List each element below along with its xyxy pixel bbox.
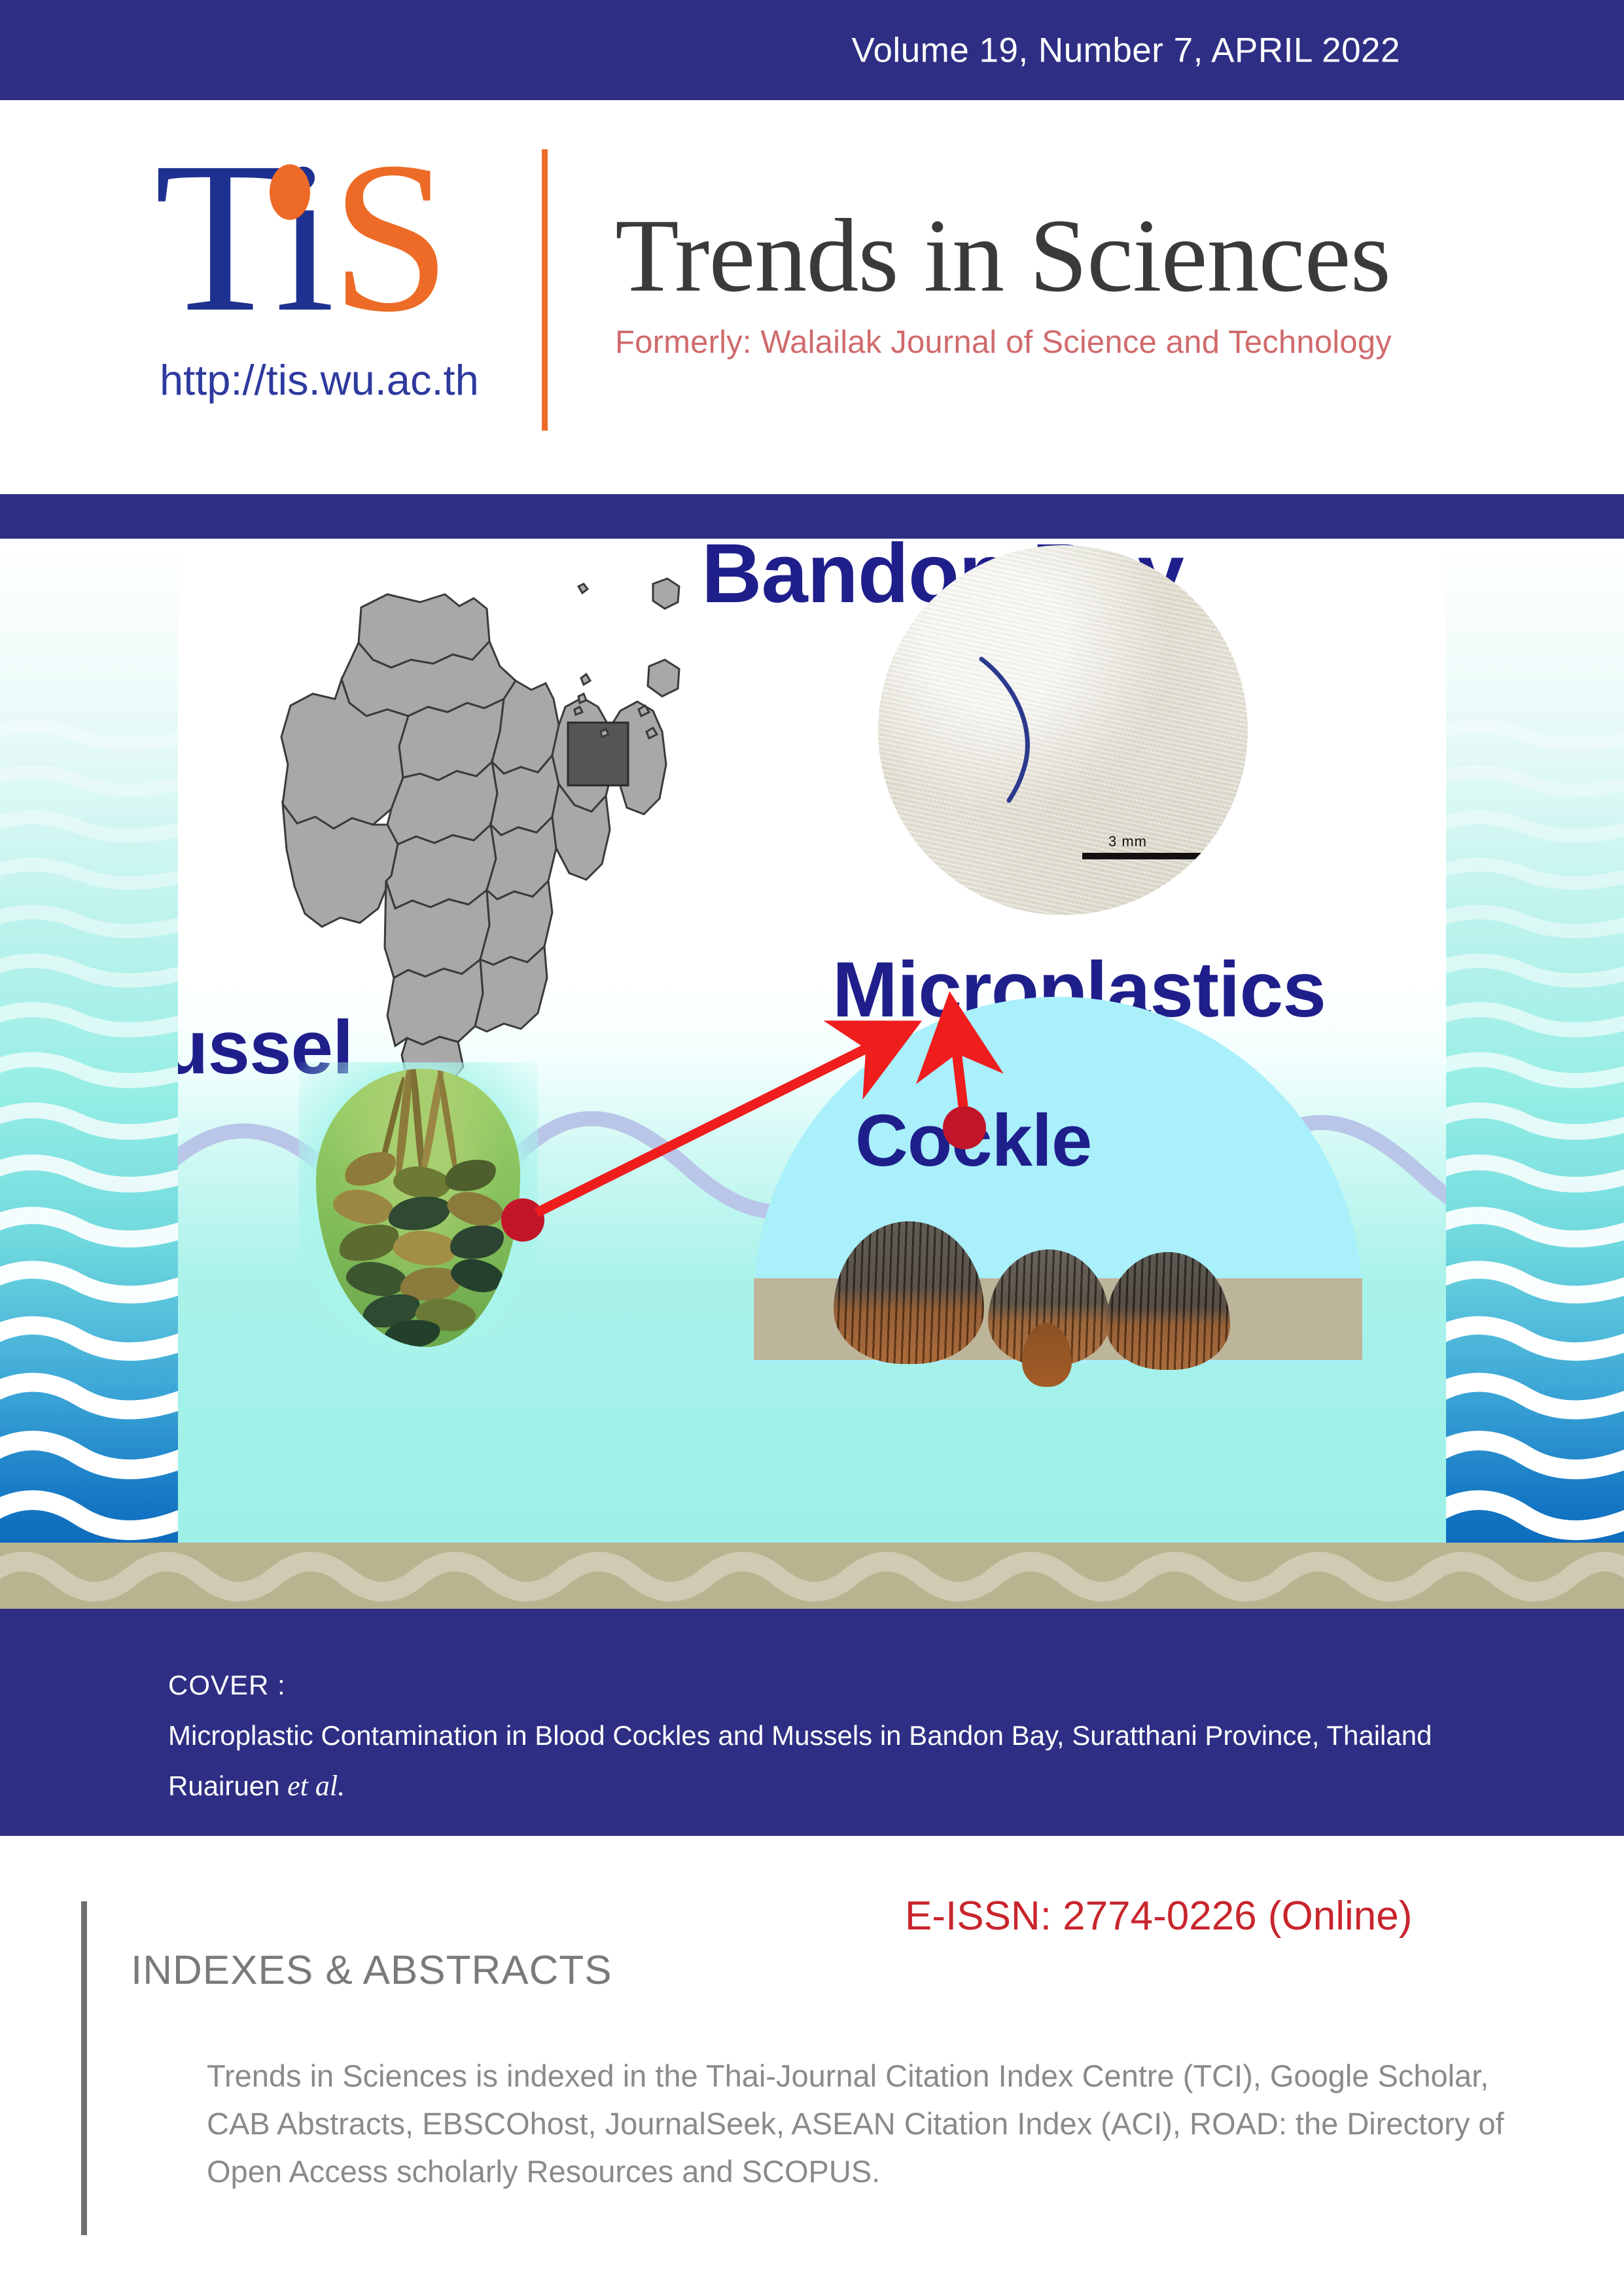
masthead-blue-rule [0, 494, 1624, 539]
journal-title-block: Trends in Sciences Formerly: Walailak Jo… [615, 202, 1426, 361]
seabed-sand-band [0, 1543, 1624, 1609]
issue-line: Volume 19, Number 7, APRIL 2022 [852, 30, 1400, 70]
masthead: TiS http://tis.wu.ac.th Trends in Scienc… [0, 100, 1624, 494]
cover-caption-author: Ruairuen et al. [168, 1769, 345, 1803]
journal-url[interactable]: http://tis.wu.ac.th [160, 355, 479, 404]
cover-author-name: Ruairuen [168, 1770, 287, 1801]
masthead-divider [542, 149, 548, 431]
logo-dot-icon [270, 164, 310, 220]
wave-stripes-right-icon [1446, 539, 1624, 1543]
cover-artwork: Bandon Bay Microplastics Mussel 3 mm [0, 539, 1624, 1609]
wave-stripes-left-icon [0, 539, 178, 1543]
issue-banner: Volume 19, Number 7, APRIL 2022 [0, 0, 1624, 100]
logo-letter-s: S [331, 118, 448, 357]
wave-panel-left [0, 539, 178, 1543]
indexes-heading: INDEXES & ABSTRACTS [131, 1947, 612, 1994]
mussel-sample-dot-icon [501, 1198, 544, 1242]
cover-caption-block: COVER : Microplastic Contamination in Bl… [0, 1609, 1624, 1836]
journal-title: Trends in Sciences [615, 202, 1426, 310]
indexes-vertical-rule [81, 1901, 87, 2235]
logo-letter-t: T [154, 118, 275, 357]
sand-ripple-icon [0, 1543, 1624, 1609]
logo-letter-i: i [275, 118, 331, 357]
cockle-sample-dot-icon [943, 1106, 986, 1149]
journal-logo[interactable]: TiS http://tis.wu.ac.th [154, 139, 540, 447]
indexes-abstracts-section: E-ISSN: 2774-0226 (Online) INDEXES & ABS… [0, 1836, 1624, 2296]
wave-panel-right [1446, 539, 1624, 1543]
cover-scene: Bandon Bay Microplastics Mussel 3 mm [178, 539, 1446, 1543]
journal-former-title: Formerly: Walailak Journal of Science an… [615, 324, 1426, 361]
indicator-arrows [178, 539, 1446, 1543]
indexes-body-text: Trends in Sciences is indexed in the Tha… [207, 2052, 1515, 2195]
cover-author-etal: et al. [287, 1770, 345, 1802]
cover-caption-label: COVER : [168, 1670, 286, 1701]
cover-caption-title: Microplastic Contamination in Blood Cock… [168, 1720, 1432, 1751]
eissn-text: E-ISSN: 2774-0226 (Online) [905, 1893, 1412, 1939]
logo-wordmark: TiS [154, 139, 540, 355]
